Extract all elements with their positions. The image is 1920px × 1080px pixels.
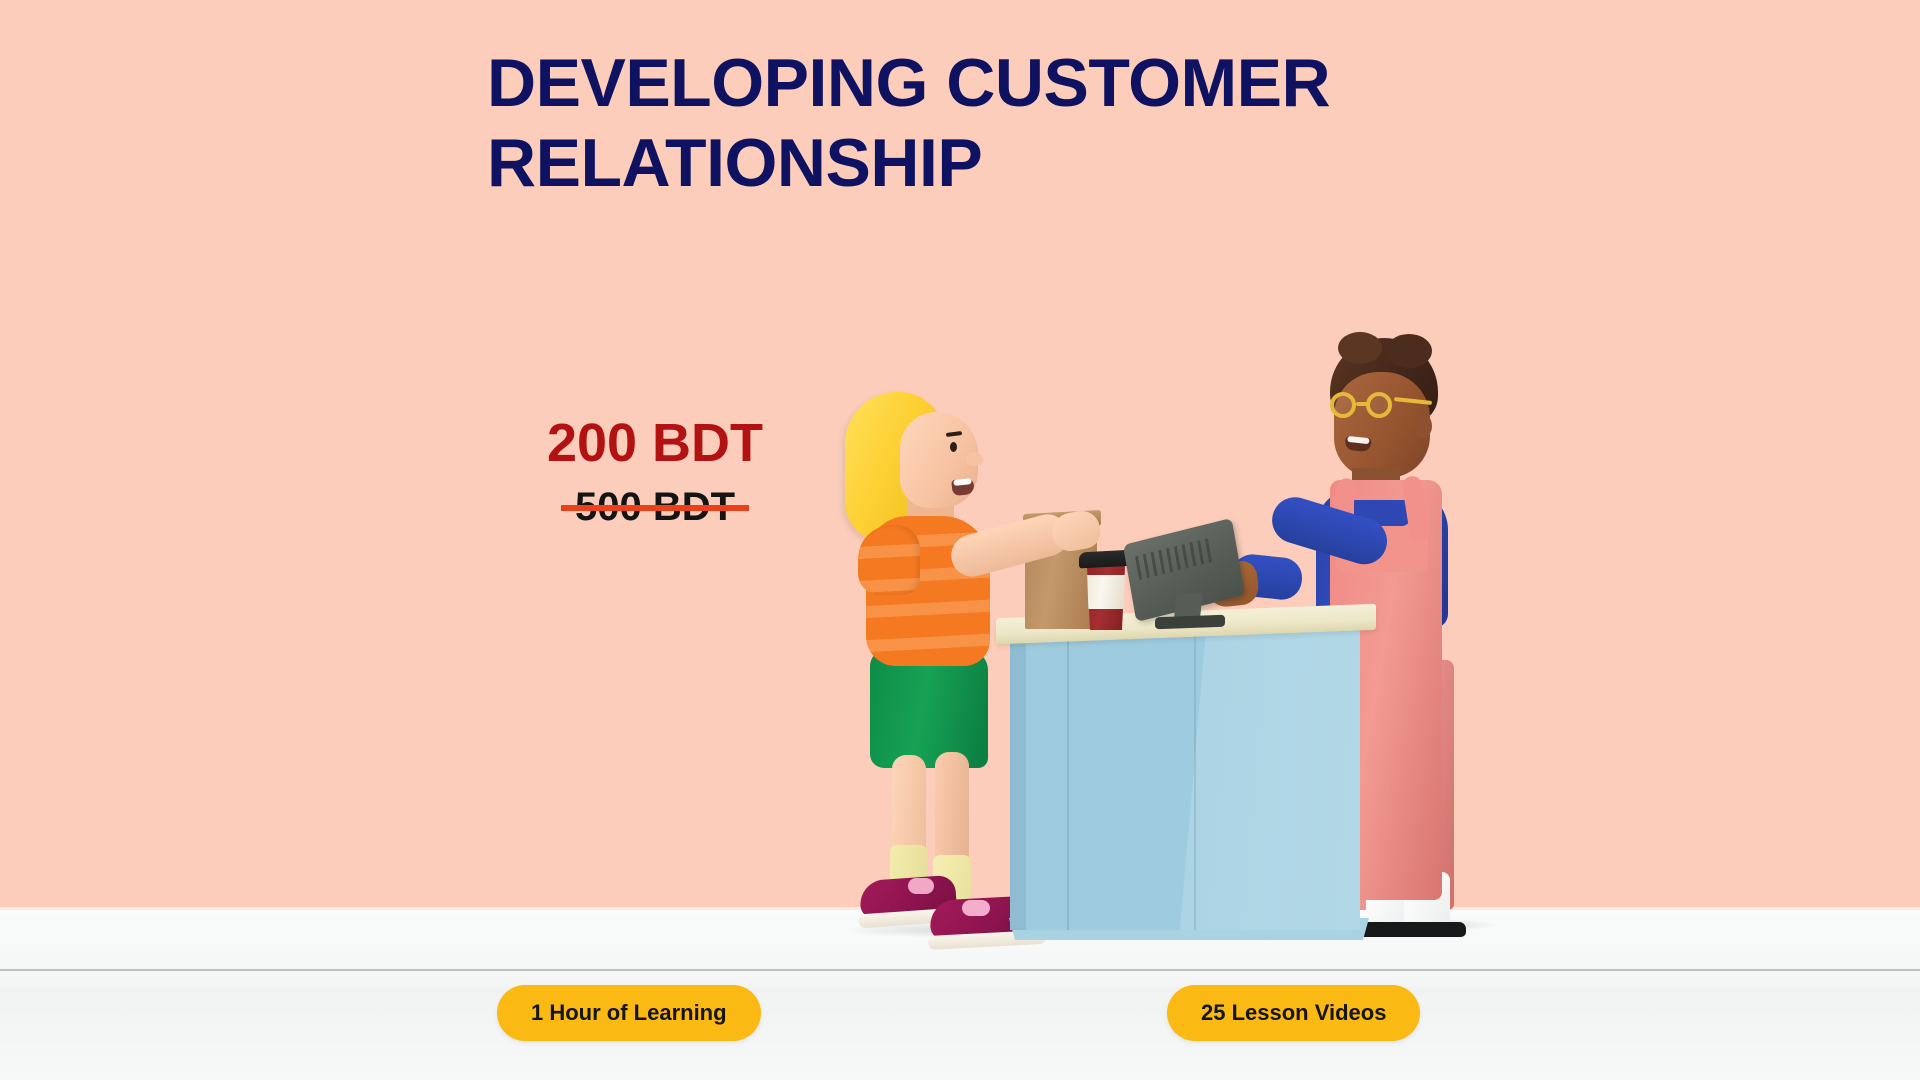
price-strikethrough [561,505,749,511]
headline-line-2: RELATIONSHIP [487,124,1547,204]
original-price-wrapper: 500 BDT [575,486,735,528]
headline-line-1: DEVELOPING CUSTOMER [487,44,1547,124]
customer-nose [966,452,983,466]
customer-mouth [951,478,975,496]
counter-body [1010,630,1360,930]
customer-sleeve [858,525,920,595]
customer-shoe-tongue-back [908,878,934,894]
counter-side-panel [1010,640,1026,930]
customer-leg-front [935,752,969,870]
course-promo-banner: DEVELOPING CUSTOMER RELATIONSHIP 200 BDT… [0,0,1920,1080]
customer-eye [950,442,957,452]
pos-terminal-vents [1135,538,1213,580]
price-block: 200 BDT 500 BDT [510,415,800,528]
pos-terminal-base [1155,615,1225,629]
customer-shoe-tongue-front [962,900,990,916]
glasses-left-lens [1330,392,1356,418]
cashier-glasses-icon [1330,392,1430,418]
current-price: 200 BDT [510,415,800,472]
coffee-cup-sleeve [1086,575,1126,609]
badge-lesson-videos[interactable]: 25 Lesson Videos [1167,985,1420,1041]
glasses-right-lens [1366,392,1392,418]
glasses-temple [1394,397,1432,405]
customer-shorts [870,650,988,768]
page-title: DEVELOPING CUSTOMER RELATIONSHIP [487,44,1547,203]
badge-hours-of-learning[interactable]: 1 Hour of Learning [497,985,761,1041]
glasses-bridge [1356,402,1368,406]
